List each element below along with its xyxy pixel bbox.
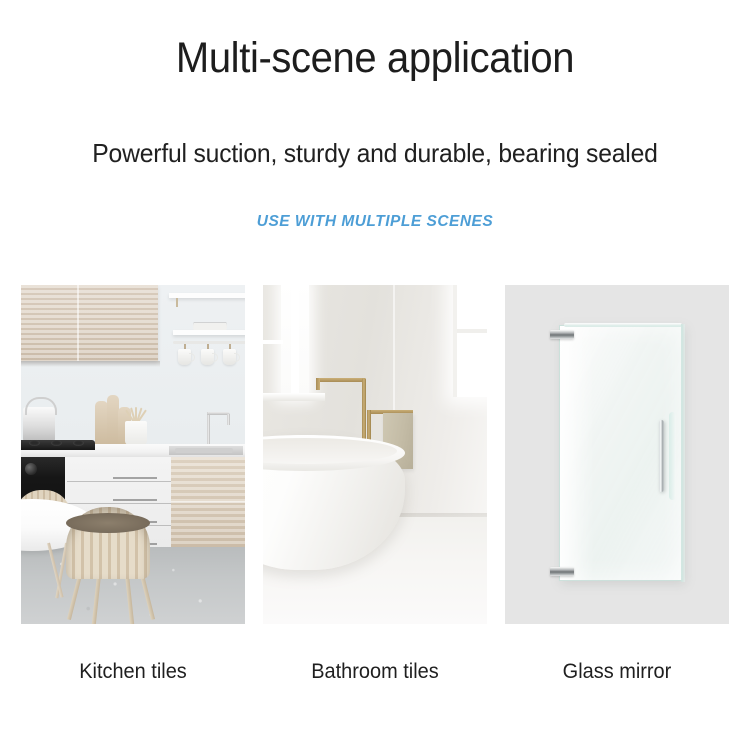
kitchen-kettle [23, 407, 55, 443]
kitchen-burner [51, 440, 62, 446]
kitchen-wood-cabinet [171, 457, 245, 549]
kitchen-shelf-upper [169, 293, 245, 298]
kitchen-oven-knob [25, 463, 37, 475]
kitchen-burner [29, 440, 40, 446]
caption-kitchen: Kitchen tiles [27, 660, 240, 684]
kitchen-drawer-line [67, 481, 171, 482]
glass-edge-top [564, 323, 682, 327]
glass-mirror-photo [505, 285, 729, 624]
kitchen-photo [21, 285, 245, 624]
kitchen-mug [201, 349, 214, 365]
scene-card-glass-mirror [505, 285, 729, 624]
bathroom-window-sill [263, 340, 283, 344]
kitchen-shelf-rod [176, 298, 178, 307]
bathroom-faucet-riser [316, 378, 320, 390]
kitchen-sink [169, 446, 243, 455]
scene-gallery [21, 285, 729, 624]
scene-card-bathroom [263, 285, 487, 624]
kitchen-shelf-lower [173, 330, 245, 335]
kitchen-mug [178, 349, 191, 365]
caption-row: Kitchen tiles Bathroom tiles Glass mirro… [21, 660, 729, 684]
kitchen-mug [223, 349, 236, 365]
glass-hinge-top [550, 330, 574, 339]
kitchen-faucet [207, 412, 210, 446]
kitchen-drawer-handle [113, 477, 157, 479]
bathroom-faucet-arm [316, 378, 366, 382]
kitchen-upper-cabinet [21, 285, 158, 361]
glass-edge-right [681, 324, 685, 582]
kitchen-utensil-holder [125, 421, 147, 445]
caption-glass-mirror: Glass mirror [511, 660, 724, 684]
glass-handle-reflection [669, 412, 676, 500]
glass-door-panel [559, 325, 683, 581]
caption-bathroom: Bathroom tiles [269, 660, 482, 684]
scene-card-kitchen [21, 285, 245, 624]
eyebrow-tagline: USE WITH MULTIPLE SCENES [0, 213, 750, 231]
product-feature-page: Multi-scene application Powerful suction… [0, 0, 750, 750]
bathroom-window-ledge [263, 393, 325, 401]
kitchen-drawer-handle [113, 499, 157, 501]
glass-door-handle [659, 420, 664, 492]
kitchen-drawer-line [67, 503, 171, 504]
kitchen-burner [73, 440, 84, 446]
bathroom-photo [263, 285, 487, 624]
kitchen-cabinet-shadow [21, 361, 160, 367]
bathroom-window-right [453, 285, 487, 397]
page-title: Multi-scene application [26, 36, 724, 81]
glass-hinge-bottom [550, 567, 574, 576]
page-subtitle: Powerful suction, sturdy and durable, be… [19, 138, 732, 169]
bathroom-window-frame-left [291, 285, 299, 397]
glass-sheen [560, 326, 594, 580]
bathroom-faucet-column [362, 378, 366, 446]
kitchen-dish [193, 323, 227, 330]
kitchen-chair-seat [66, 513, 150, 533]
